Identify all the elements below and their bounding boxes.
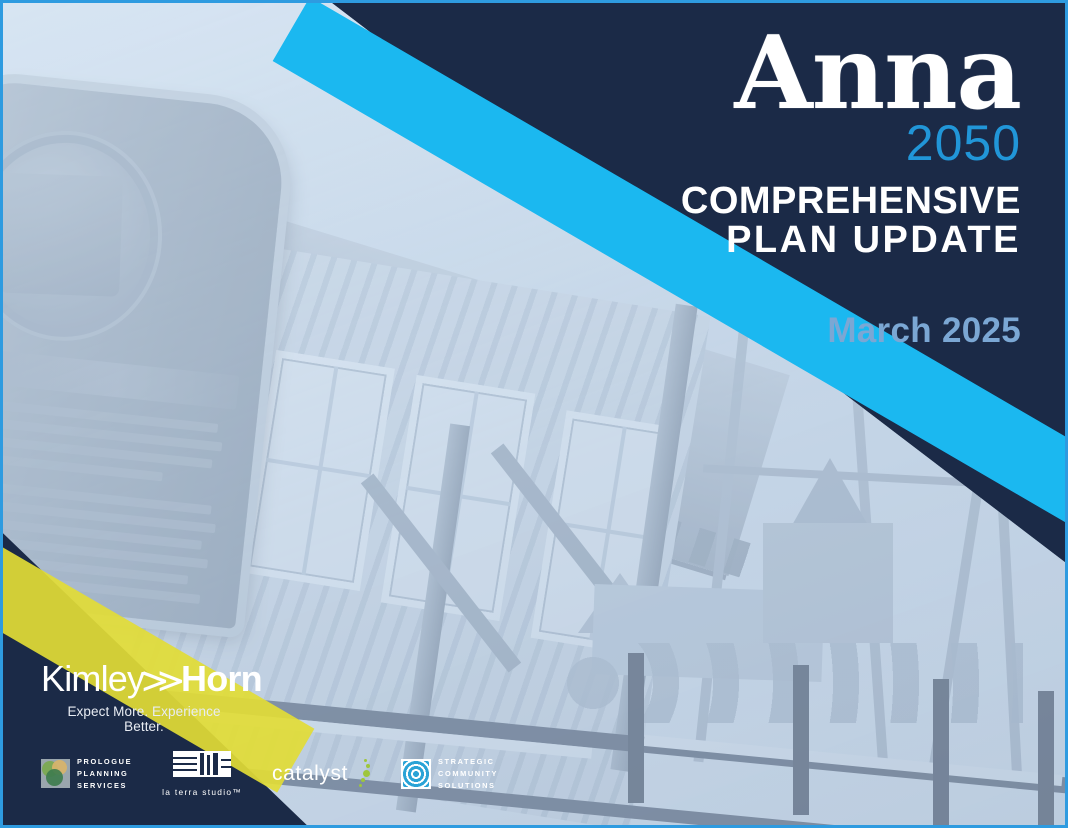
dot-column-icon	[355, 759, 371, 789]
page-title: Anna	[681, 25, 1021, 122]
partner-name-catalyst: catalyst	[272, 762, 348, 786]
partner-name-prologue: PROLOGUE PLANNING SERVICES	[77, 756, 132, 792]
overlapping-circles-icon	[41, 759, 70, 788]
partner-logo-prologue-planning-services: PROLOGUE PLANNING SERVICES	[41, 756, 132, 792]
kimley-horn-tagline: Expect More. Experience Better.	[55, 704, 233, 734]
partner-logo-strategic-community-solutions: STRATEGIC COMMUNITY SOLUTIONS	[401, 756, 498, 792]
kimley-horn-name-part2: Horn	[181, 658, 262, 699]
partner-name-scs: STRATEGIC COMMUNITY SOLUTIONS	[438, 756, 498, 792]
partner-logo-la-terra-studio: la terra studio™	[162, 751, 242, 797]
spiral-square-icon	[401, 759, 431, 789]
subtitle-line-1: COMPREHENSIVE	[681, 182, 1021, 221]
partner-name-la-terra-studio: la terra studio™	[162, 787, 242, 797]
kimley-horn-logo: Kimley≫Horn	[41, 661, 498, 697]
subtitle-line-2: PLAN UPDATE	[681, 221, 1021, 260]
partner-name-line: STRATEGIC	[438, 756, 498, 768]
partner-logo-row: PROLOGUE PLANNING SERVICES la terra stud…	[41, 751, 498, 797]
partner-name-line: PROLOGUE	[77, 756, 132, 768]
vertical-bars-icon	[173, 751, 231, 777]
partner-name-line: PLANNING	[77, 768, 132, 780]
partner-name-line: SERVICES	[77, 780, 132, 792]
cover-page: Anna 2050 COMPREHENSIVE PLAN UPDATE Marc…	[0, 0, 1068, 828]
page-subtitle: COMPREHENSIVE PLAN UPDATE	[681, 182, 1021, 260]
partner-logo-catalyst: catalyst	[272, 759, 371, 789]
partner-name-line: COMMUNITY	[438, 768, 498, 780]
partner-name-line: SOLUTIONS	[438, 780, 498, 792]
title-block: Anna 2050 COMPREHENSIVE PLAN UPDATE Marc…	[681, 25, 1021, 351]
publication-date: March 2025	[681, 311, 1021, 351]
footer-logo-block: Kimley≫Horn Expect More. Experience Bett…	[41, 661, 498, 797]
kimley-horn-name-part1: Kimley	[41, 658, 144, 699]
chevron-icon: ≫	[141, 664, 184, 698]
